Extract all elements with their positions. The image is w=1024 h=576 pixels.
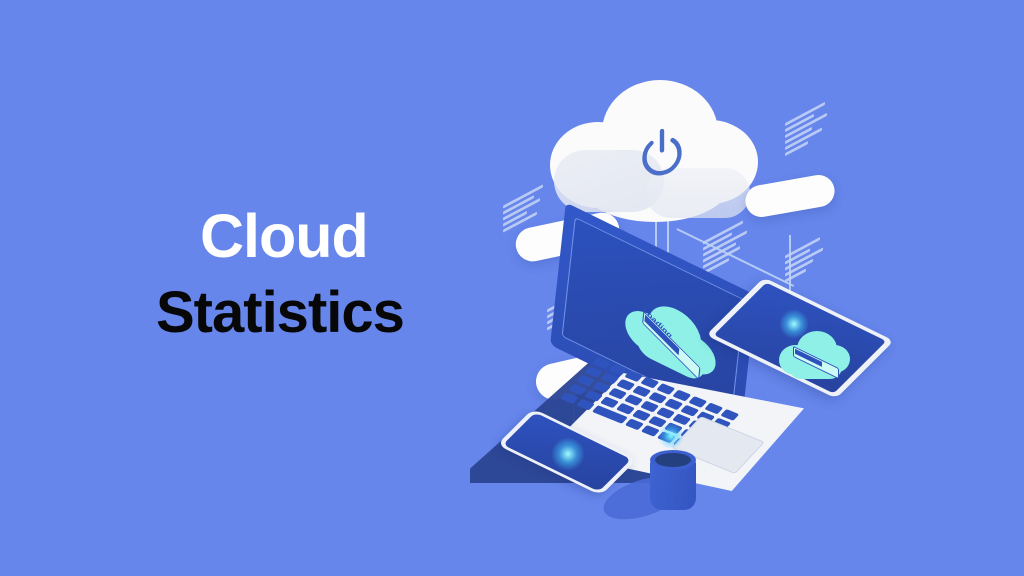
coffee-mug bbox=[640, 450, 720, 530]
cloud-computing-illustration: Loading... bbox=[455, 50, 925, 560]
poster-canvas: Cloud Statistics bbox=[0, 0, 1024, 576]
power-icon bbox=[634, 128, 690, 184]
tablet-glow-icon bbox=[779, 309, 809, 339]
phone-glow-icon bbox=[551, 437, 585, 471]
cloud-shape bbox=[550, 80, 760, 230]
keyboard-glow-icon bbox=[658, 423, 684, 449]
data-stream-2-icon bbox=[785, 101, 827, 159]
tablet bbox=[735, 295, 885, 425]
mug-interior bbox=[655, 453, 691, 467]
